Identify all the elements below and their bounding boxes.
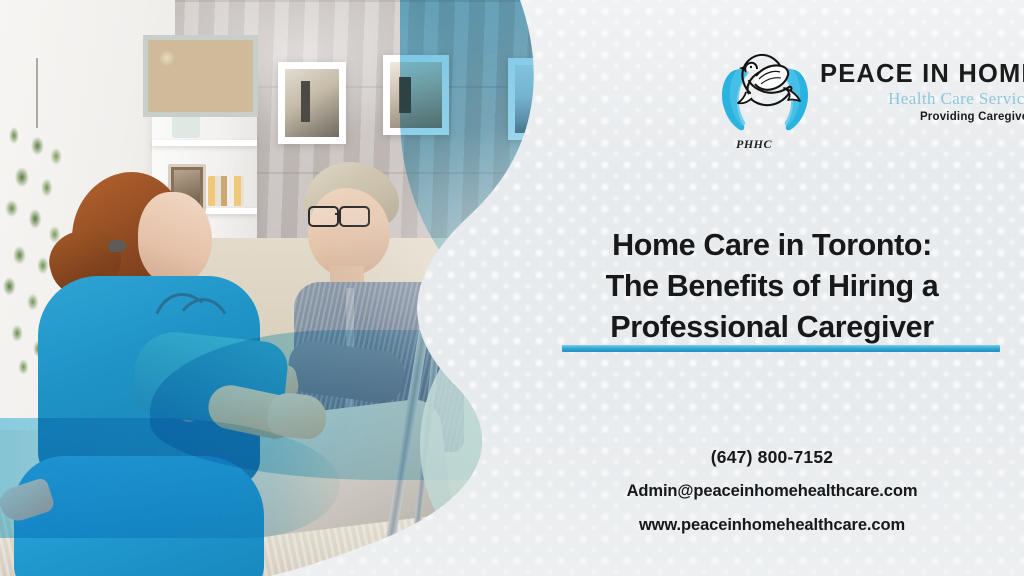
contact-block: (647) 800-7152 Admin@peaceinhomehealthca… bbox=[540, 440, 1004, 543]
logo-company-name: PEACE IN HOME bbox=[820, 61, 1024, 88]
page-title: Home Care in Toronto: The Benefits of Hi… bbox=[540, 225, 1004, 348]
title-line-3: Professional Caregiver bbox=[540, 307, 1004, 348]
logo-tagline-secondary: Providing Caregivers bbox=[920, 109, 1024, 126]
title-line-2: The Benefits of Hiring a bbox=[540, 266, 1004, 307]
logo-wordmark: PEACE IN HOME Health Care Services Provi… bbox=[820, 61, 1024, 132]
dove-in-hands-icon: PHHC bbox=[712, 38, 818, 156]
contact-email[interactable]: Admin@peaceinhomehealthcare.com bbox=[540, 474, 1004, 508]
accent-divider bbox=[562, 345, 1000, 352]
contact-website[interactable]: www.peaceinhomehealthcare.com bbox=[540, 508, 1004, 542]
contact-phone[interactable]: (647) 800-7152 bbox=[540, 440, 1004, 474]
brand-logo[interactable]: PHHC PEACE IN HOME Health Care Services … bbox=[712, 38, 1004, 156]
logo-tagline-primary: Health Care Services bbox=[888, 88, 1024, 109]
content-panel: PHHC PEACE IN HOME Health Care Services … bbox=[0, 0, 1024, 576]
marketing-banner: PHHC PEACE IN HOME Health Care Services … bbox=[0, 0, 1024, 576]
logo-monogram: PHHC bbox=[736, 137, 772, 152]
title-line-1: Home Care in Toronto: bbox=[540, 225, 1004, 266]
